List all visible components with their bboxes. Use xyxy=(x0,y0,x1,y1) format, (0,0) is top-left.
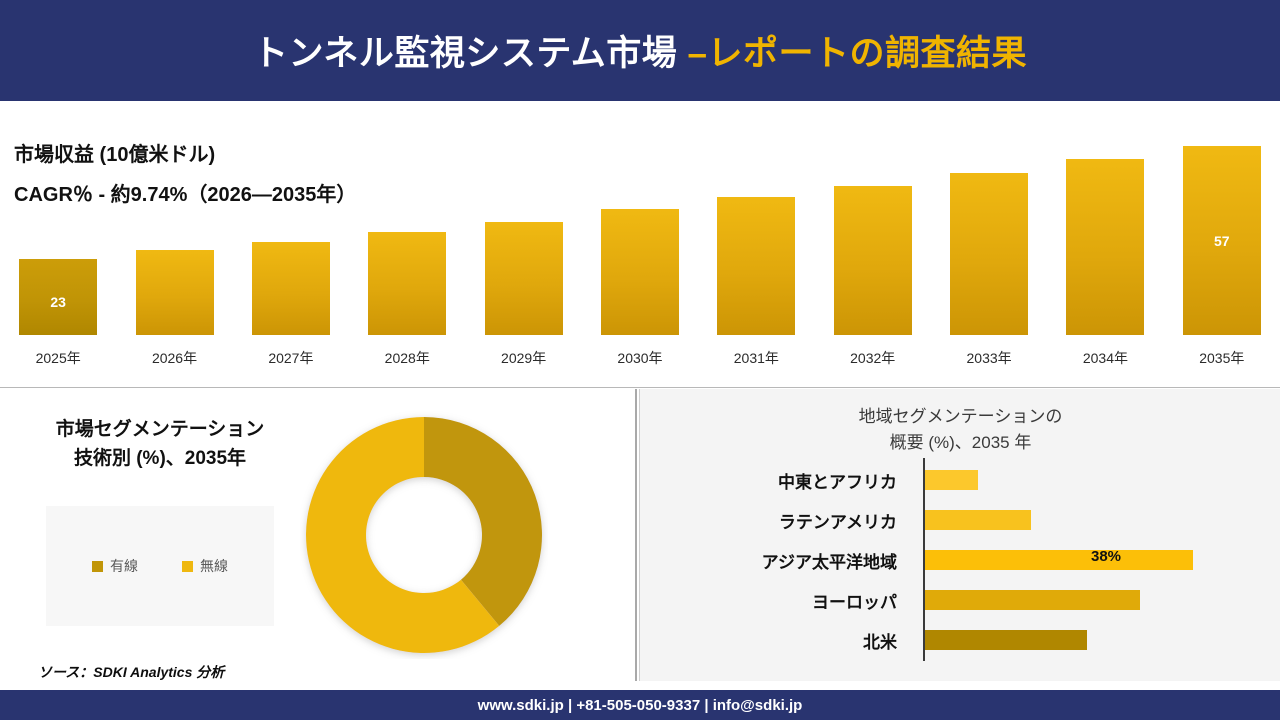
bar-category-label: 2033年 xyxy=(931,348,1047,368)
bar-category-label: 2027年 xyxy=(233,348,349,368)
legend-item-有線[interactable]: 有線 xyxy=(92,556,138,576)
revenue-bar-2026年 xyxy=(136,250,214,335)
segmentation-title-line1: 市場セグメンテーション xyxy=(10,415,310,444)
bar-category-label: 2029年 xyxy=(465,348,581,368)
page-header: トンネル監視システム市場 –レポートの調査結果 xyxy=(0,0,1280,101)
revenue-bar-plot: 232025年2026年2027年2028年2029年2030年2031年203… xyxy=(0,108,1280,388)
revenue-bar-2030年 xyxy=(601,209,679,335)
revenue-bar-2035年: 57 xyxy=(1183,146,1261,335)
region-category-label: 北米 xyxy=(863,628,897,653)
legend-swatch-icon xyxy=(92,561,103,572)
region-category-label: ヨーロッパ xyxy=(812,588,897,613)
bar-rect xyxy=(485,222,563,335)
bar-category-label: 2025年 xyxy=(0,348,116,368)
page-footer: www.sdki.jp | +81-505-050-9337 | info@sd… xyxy=(0,690,1280,720)
region-bar-rect xyxy=(925,470,978,490)
legend-item-無線[interactable]: 無線 xyxy=(182,556,228,576)
segmentation-title: 市場セグメンテーション 技術別 (%)、2035年 xyxy=(10,415,310,474)
region-row-アジア太平洋地域: アジア太平洋地域38% xyxy=(640,545,1280,575)
revenue-bar-chart-panel: 市場収益 (10億米ドル) CAGR％ - 約9.74%（2026―2035年）… xyxy=(0,108,1280,388)
bar-category-label: 2035年 xyxy=(1164,348,1280,368)
source-note: ソース：SDKI Analytics 分析 xyxy=(38,662,224,682)
bar-rect: 23 xyxy=(19,259,97,335)
region-row-中東とアフリカ: 中東とアフリカ xyxy=(640,465,1280,495)
revenue-bar-2031年 xyxy=(717,197,795,335)
donut-svg-root xyxy=(300,411,548,659)
bar-rect xyxy=(601,209,679,335)
bar-rect xyxy=(136,250,214,335)
revenue-bar-2033年 xyxy=(950,173,1028,335)
revenue-bar-2028年 xyxy=(368,232,446,335)
page-title-main: トンネル監視システム市場 xyxy=(253,34,687,73)
page-title: トンネル監視システム市場 –レポートの調査結果 xyxy=(253,25,1027,76)
bar-rect xyxy=(1066,159,1144,335)
segmentation-title-line2: 技術別 (%)、2035年 xyxy=(10,444,310,473)
region-bar-value-label: 38% xyxy=(1091,548,1121,565)
region-row-ヨーロッパ: ヨーロッパ xyxy=(640,585,1280,615)
revenue-bar-2034年 xyxy=(1066,159,1144,335)
segmentation-donut-chart xyxy=(300,411,548,664)
bar-category-label: 2032年 xyxy=(815,348,931,368)
bar-category-label: 2030年 xyxy=(582,348,698,368)
segmentation-panel: 市場セグメンテーション 技術別 (%)、2035年 有線無線 xyxy=(0,389,637,681)
bar-rect xyxy=(950,173,1028,335)
bar-value-label: 23 xyxy=(19,294,97,310)
region-bar-rect xyxy=(925,590,1140,610)
legend-label: 無線 xyxy=(200,556,228,576)
region-row-ラテンアメリカ: ラテンアメリカ xyxy=(640,505,1280,535)
page-title-accent: –レポートの調査結果 xyxy=(688,34,1027,73)
revenue-bar-2025年: 23 xyxy=(19,259,97,335)
legend-swatch-icon xyxy=(182,561,193,572)
bar-value-label: 57 xyxy=(1183,233,1261,249)
revenue-bar-2029年 xyxy=(485,222,563,335)
revenue-bar-2032年 xyxy=(834,186,912,335)
bar-rect xyxy=(252,242,330,335)
segmentation-legend: 有線無線 xyxy=(46,506,274,626)
bar-category-label: 2028年 xyxy=(349,348,465,368)
region-category-label: ラテンアメリカ xyxy=(779,508,897,533)
bar-rect xyxy=(717,197,795,335)
bar-rect xyxy=(834,186,912,335)
header-divider xyxy=(0,101,1280,108)
bar-rect xyxy=(368,232,446,335)
bar-rect: 57 xyxy=(1183,146,1261,335)
region-panel: 地域セグメンテーションの 概要 (%)、2035 年 中東とアフリカラテンアメリ… xyxy=(639,389,1280,681)
bar-category-label: 2034年 xyxy=(1047,348,1163,368)
region-bar-rect xyxy=(925,630,1087,650)
region-bar-rect xyxy=(925,510,1031,530)
bar-category-label: 2031年 xyxy=(698,348,814,368)
region-category-label: 中東とアフリカ xyxy=(778,468,897,493)
region-category-label: アジア太平洋地域 xyxy=(762,548,897,573)
region-bar-plot: 中東とアフリカラテンアメリカアジア太平洋地域38%ヨーロッパ北米 xyxy=(640,389,1280,681)
region-row-北米: 北米 xyxy=(640,625,1280,655)
bar-category-label: 2026年 xyxy=(116,348,232,368)
revenue-bar-2027年 xyxy=(252,242,330,335)
footer-contact-text[interactable]: www.sdki.jp | +81-505-050-9337 | info@sd… xyxy=(478,697,803,714)
legend-label: 有線 xyxy=(110,556,138,576)
region-bar-rect xyxy=(925,550,1193,570)
